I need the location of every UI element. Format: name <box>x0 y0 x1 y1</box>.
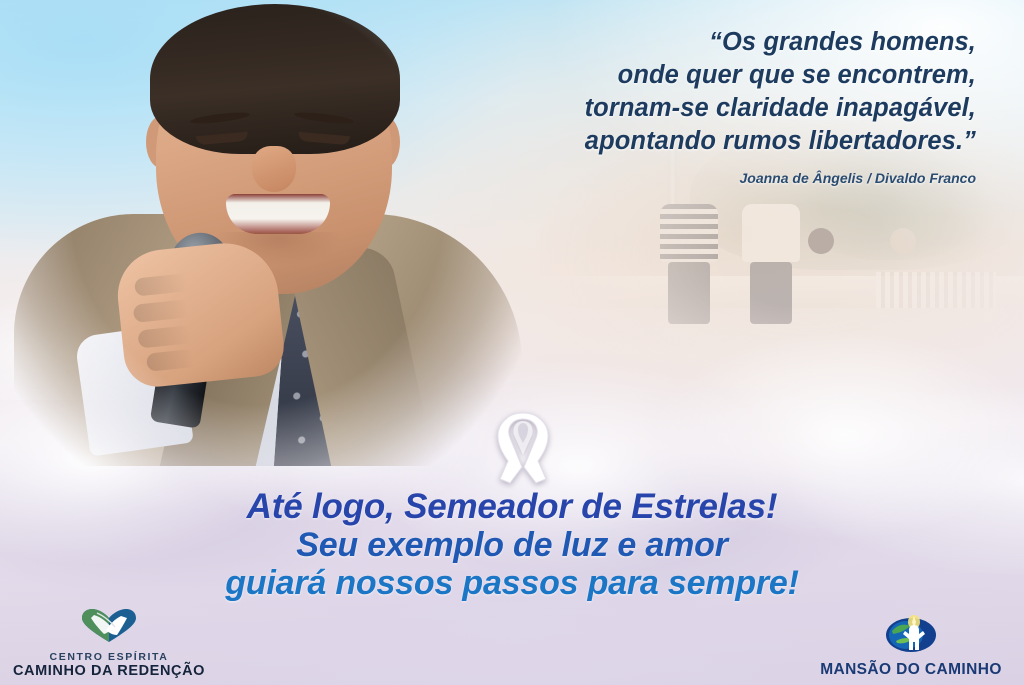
logo-right-line-2: MANSÃO DO CAMINHO <box>804 661 1018 679</box>
portrait-nose <box>252 146 296 192</box>
logo-mansao-do-caminho: MANSÃO DO CAMINHO <box>804 613 1018 679</box>
quote-line-4: apontando rumos libertadores.” <box>376 125 976 158</box>
quote-text: “Os grandes homens, onde quer que se enc… <box>376 26 976 159</box>
tribute-poster: “Os grandes homens, onde quer que se enc… <box>0 0 1024 685</box>
quote-line-2: onde quer que se encontrem, <box>376 59 976 92</box>
quote-attribution: Joanna de Ângelis / Divaldo Franco <box>376 170 976 186</box>
headline-line-3: guiará nossos passos para sempre! <box>0 565 1024 601</box>
headline-line-2: Seu exemplo de luz e amor <box>0 527 1024 563</box>
portrait-hand <box>113 238 286 390</box>
headline: Até logo, Semeador de Estrelas! Seu exem… <box>0 488 1024 601</box>
headline-line-1: Até logo, Semeador de Estrelas! <box>0 488 1024 525</box>
heart-hands-icon <box>6 609 212 648</box>
logo-centro-espirita-caminho-da-redencao: CENTRO ESPÍRITA CAMINHO DA REDENÇÃO <box>6 609 212 679</box>
quote-line-3: tornam-se claridade inapagável, <box>376 92 976 125</box>
logo-left-line-2: CAMINHO DA REDENÇÃO <box>6 663 212 679</box>
portrait-smile <box>226 194 330 234</box>
portrait-hair <box>150 4 400 154</box>
quote-line-1: “Os grandes homens, <box>376 26 976 59</box>
logo-left-line-1: CENTRO ESPÍRITA <box>6 651 212 663</box>
portrait-finger <box>134 265 265 296</box>
globe-figure-icon <box>804 613 1018 658</box>
white-awareness-ribbon-icon <box>488 409 558 487</box>
portrait-finger <box>146 342 263 372</box>
